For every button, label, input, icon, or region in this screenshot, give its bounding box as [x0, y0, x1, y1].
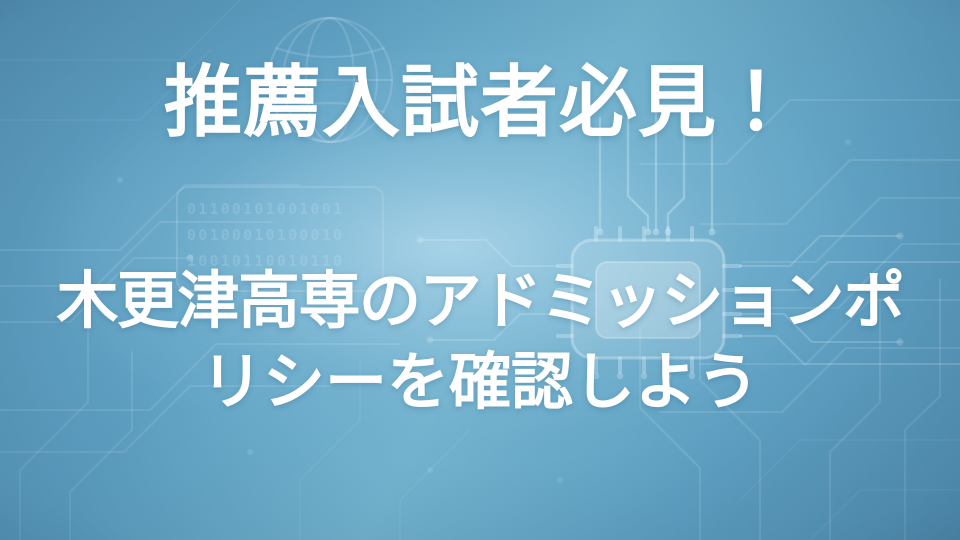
title-slide: 01100101001001 00100010100010 1001011001… [0, 0, 960, 540]
headline: 推薦入試者必見！ [0, 54, 960, 151]
subtitle-line-1: 木更津高専のアドミッションポ [0, 262, 960, 343]
subtitle: 木更津高専のアドミッションポ リシーを確認しよう [0, 262, 960, 423]
subtitle-line-2: リシーを確認しよう [0, 343, 960, 424]
text-layer: 推薦入試者必見！ 木更津高専のアドミッションポ リシーを確認しよう [0, 0, 960, 540]
